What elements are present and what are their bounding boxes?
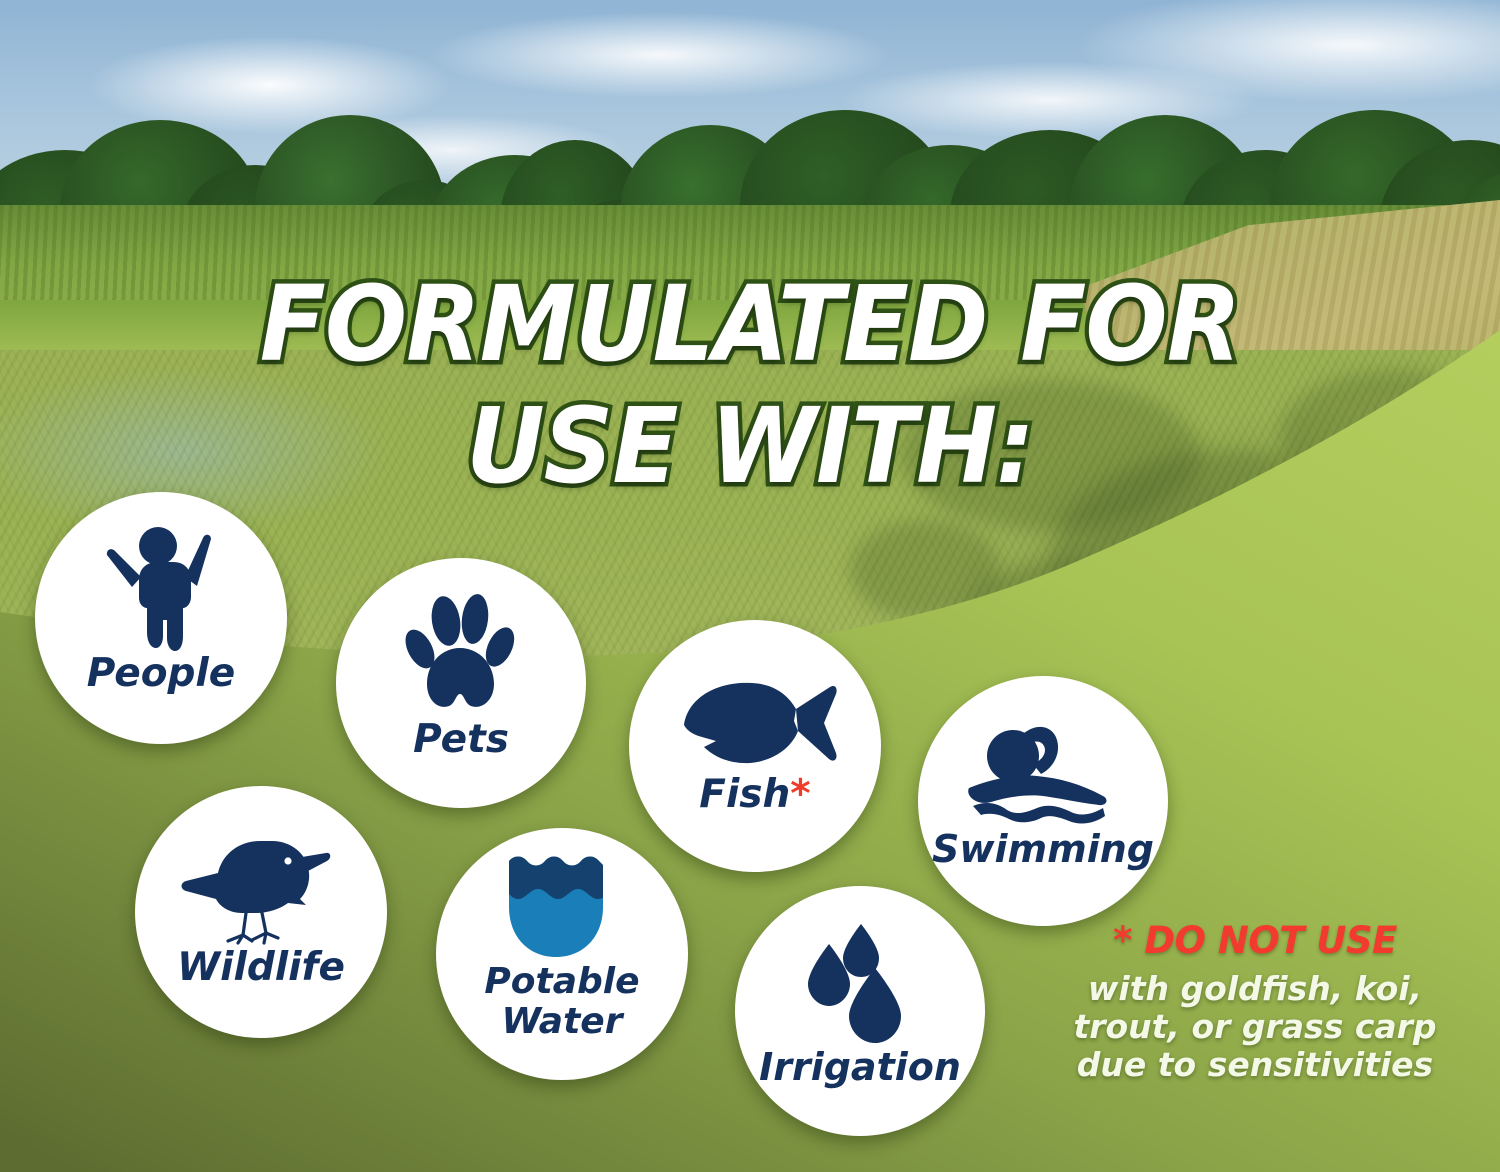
badge-people[interactable]: People: [35, 492, 287, 744]
potable-water-line-2: Water: [502, 1001, 623, 1042]
badge-label-fish-text: Fish: [699, 772, 790, 817]
poster-root: FORMULATED FOR USE WITH: People Pet: [0, 0, 1500, 1172]
warning-line-1: with goldfish, koi,: [1030, 970, 1480, 1008]
swimmer-icon: [963, 718, 1123, 830]
badge-label-people: People: [87, 654, 236, 693]
badge-swimming[interactable]: Swimming: [918, 676, 1168, 926]
badge-pets[interactable]: Pets: [336, 558, 586, 808]
warning-block: * DO NOT USE with goldfish, koi, trout, …: [1030, 920, 1480, 1085]
bird-icon: [176, 830, 346, 948]
badge-label-irrigation: Irrigation: [759, 1048, 961, 1086]
fish-icon: [670, 670, 840, 775]
badge-label-swimming: Swimming: [932, 830, 1154, 868]
badge-label-fish: Fish*: [699, 775, 810, 814]
warning-line-2: trout, or grass carp: [1030, 1008, 1480, 1046]
badge-label-pets: Pets: [413, 720, 509, 759]
water-droplets-icon: [795, 916, 925, 1048]
badge-irrigation[interactable]: Irrigation: [735, 886, 985, 1136]
potable-water-line-1: Potable: [484, 961, 639, 1002]
warning-line-3: due to sensitivities: [1030, 1046, 1480, 1084]
person-arms-raised-icon: [101, 524, 221, 654]
badge-label-wildlife: Wildlife: [177, 948, 345, 987]
badge-potable-water[interactable]: Potable Water: [436, 828, 688, 1080]
paw-print-icon: [399, 588, 524, 720]
fish-asterisk: *: [790, 772, 810, 817]
badge-fish[interactable]: Fish*: [629, 620, 881, 872]
badge-wildlife[interactable]: Wildlife: [135, 786, 387, 1038]
warning-headline: * DO NOT USE: [1030, 920, 1480, 963]
badge-label-potable-water: Potable Water: [484, 962, 639, 1043]
water-drop-waves-icon: [506, 854, 618, 962]
